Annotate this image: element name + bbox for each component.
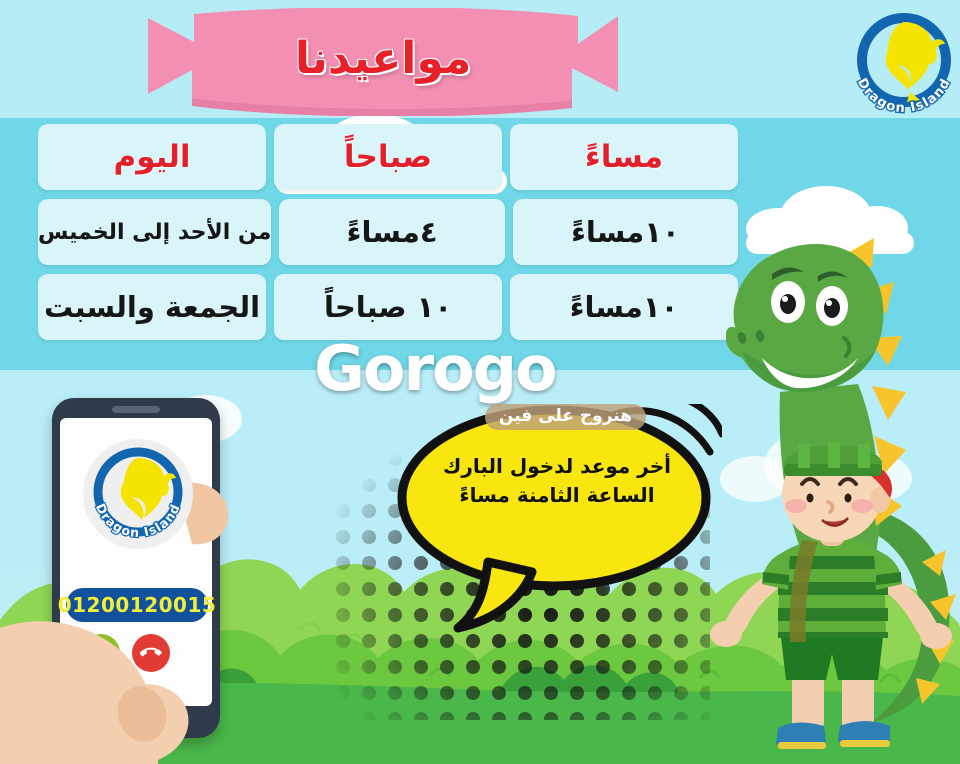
row2-day-cell: الجمعة والسبت [38,274,266,340]
row2-day-value: الجمعة والسبت [44,290,260,324]
row1-day-value: من الأحد إلى الخميس [38,220,271,245]
row2-evening-value: ١٠مساءً [570,290,679,324]
row1-morning-cell: ٤مساءً [279,199,504,265]
table-row: ١٠مساءً ٤مساءً من الأحد إلى الخميس [38,199,738,265]
banner-ribbon: مواعيدنا [148,8,618,116]
notice-text: أخر موعد لدخول البارك الساعة الثامنة مسا… [420,452,694,510]
table-header-row: مساءً صباحاً اليوم [38,124,738,190]
header-cell-evening: مساءً [510,124,738,190]
poster-canvas: أخر موعد لدخول البارك الساعة الثامنة مسا… [0,0,960,764]
banner-title: مواعيدنا [148,8,618,108]
header-day-label: اليوم [113,139,190,175]
row2-morning-value: ١٠ صباحاً [324,290,452,324]
header-morning-label: صباحاً [344,139,432,175]
table-row: ١٠مساءً ١٠ صباحاً الجمعة والسبت [38,274,738,340]
boy-character [706,442,956,764]
notice-line-1: أخر موعد لدخول البارك [420,452,694,481]
notice-line-2: الساعة الثامنة مساءً [420,481,694,510]
row1-evening-cell: ١٠مساءً [513,199,738,265]
thumb [60,630,240,764]
row2-morning-cell: ١٠ صباحاً [274,274,502,340]
row1-day-cell: من الأحد إلى الخميس [38,199,271,265]
speech-bubble: أخر موعد لدخول البارك الساعة الثامنة مسا… [392,404,722,634]
header-cell-morning: صباحاً [274,124,502,190]
header-evening-label: مساءً [585,139,663,175]
row2-evening-cell: ١٠مساءً [510,274,738,340]
schedule-table: مساءً صباحاً اليوم ١٠مساءً ٤مساءً من الأ… [38,124,738,349]
header-cell-day: اليوم [38,124,266,190]
row1-morning-value: ٤مساءً [347,215,438,249]
brand-logo-phone: Dragon Island [82,438,194,550]
brand-logo-corner: Dragon Island [848,4,960,122]
row1-evening-value: ١٠مساءً [571,215,680,249]
